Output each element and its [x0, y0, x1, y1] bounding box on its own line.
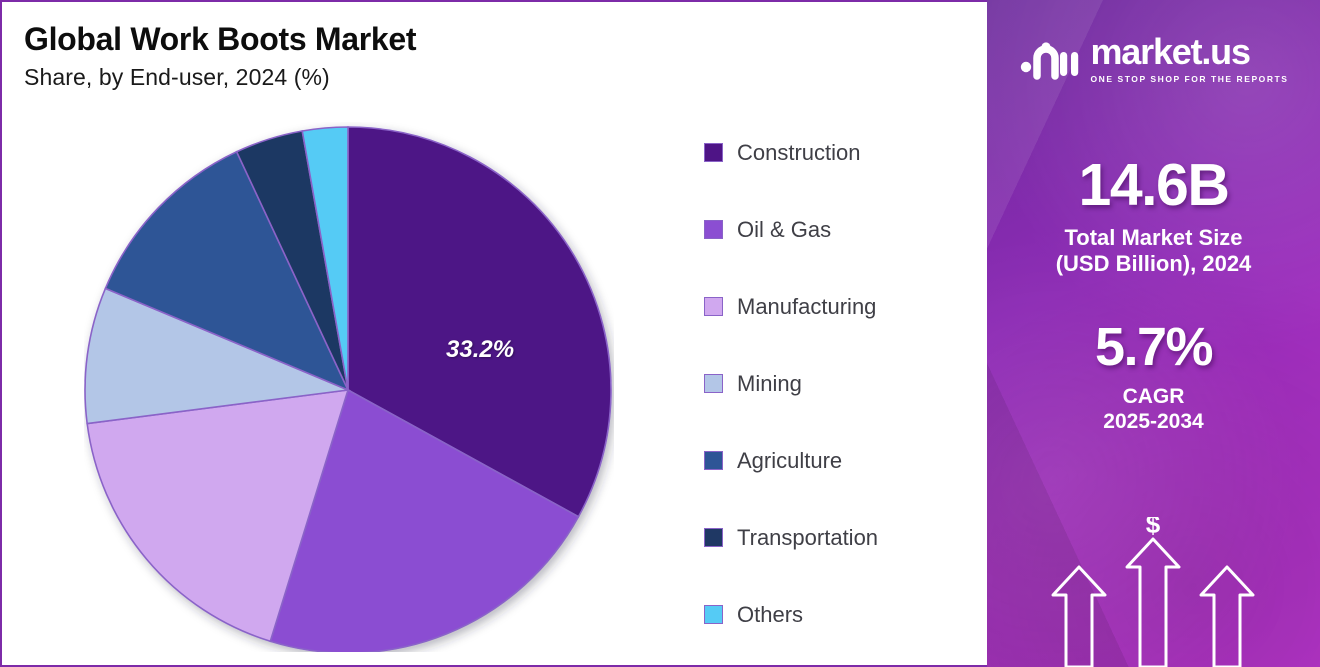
cagr-caption-line2: 2025-2034 [987, 409, 1320, 434]
brand-name: market.us [1091, 34, 1289, 70]
legend-item-construction[interactable]: Construction [704, 114, 974, 191]
legend-item-label: Construction [737, 140, 861, 166]
chart-subtitle: Share, by End-user, 2024 (%) [24, 64, 416, 91]
legend-swatch-icon [704, 605, 723, 624]
legend-item-oil-gas[interactable]: Oil & Gas [704, 191, 974, 268]
brand-logo[interactable]: market.us ONE STOP SHOP FOR THE REPORTS [987, 0, 1320, 84]
chart-header: Global Work Boots Market Share, by End-u… [24, 22, 416, 91]
pie-chart-svg [84, 122, 614, 652]
brand-tagline: ONE STOP SHOP FOR THE REPORTS [1091, 74, 1289, 84]
page-title: Global Work Boots Market [24, 22, 416, 58]
brand-panel: market.us ONE STOP SHOP FOR THE REPORTS … [987, 0, 1320, 667]
brand-logo-text: market.us ONE STOP SHOP FOR THE REPORTS [1091, 34, 1289, 84]
legend-swatch-icon [704, 220, 723, 239]
market-size-caption-line1: Total Market Size [987, 225, 1320, 251]
growth-arrows-icon: $ [987, 517, 1320, 667]
legend-swatch-icon [704, 374, 723, 393]
infographic-page: Global Work Boots Market Share, by End-u… [0, 0, 1320, 667]
cagr-caption-line1: CAGR [987, 384, 1320, 409]
stat-block-market-size: 14.6B Total Market Size (USD Billion), 2… [987, 156, 1320, 278]
brand-content: market.us ONE STOP SHOP FOR THE REPORTS … [987, 0, 1320, 434]
legend-swatch-icon [704, 528, 723, 547]
chart-panel: Global Work Boots Market Share, by End-u… [0, 0, 987, 667]
legend-item-label: Others [737, 602, 803, 628]
legend-item-label: Oil & Gas [737, 217, 831, 243]
legend-item-label: Mining [737, 371, 802, 397]
market-size-caption: Total Market Size (USD Billion), 2024 [987, 225, 1320, 278]
chart-legend: ConstructionOil & GasManufacturingMining… [704, 114, 974, 653]
market-size-value: 14.6B [987, 156, 1320, 215]
legend-swatch-icon [704, 143, 723, 162]
cagr-caption: CAGR 2025-2034 [987, 384, 1320, 434]
pie-chart: 33.2% [84, 122, 614, 652]
legend-swatch-icon [704, 297, 723, 316]
legend-item-label: Transportation [737, 525, 878, 551]
market-size-caption-line2: (USD Billion), 2024 [987, 251, 1320, 277]
legend-item-manufacturing[interactable]: Manufacturing [704, 268, 974, 345]
legend-item-agriculture[interactable]: Agriculture [704, 422, 974, 499]
legend-item-label: Manufacturing [737, 294, 876, 320]
legend-swatch-icon [704, 451, 723, 470]
pie-slices [85, 127, 611, 652]
growth-illustration: $ [987, 517, 1320, 667]
pie-slice-label-construction: 33.2% [446, 336, 514, 364]
legend-item-label: Agriculture [737, 448, 842, 474]
market-us-logo-icon [1019, 36, 1081, 82]
legend-item-others[interactable]: Others [704, 576, 974, 653]
cagr-value: 5.7% [987, 320, 1320, 374]
dollar-sign-icon: $ [1146, 517, 1161, 539]
stat-block-cagr: 5.7% CAGR 2025-2034 [987, 320, 1320, 434]
legend-item-transportation[interactable]: Transportation [704, 499, 974, 576]
legend-item-mining[interactable]: Mining [704, 345, 974, 422]
